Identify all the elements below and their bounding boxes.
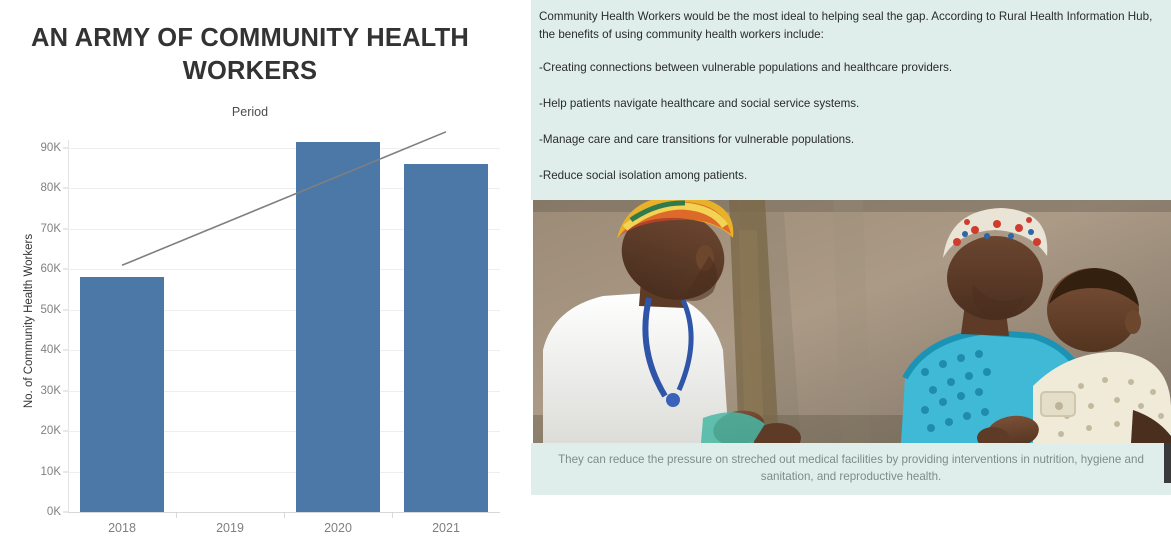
x-axis-tick-mark — [176, 512, 177, 518]
benefit-item-2: -Help patients navigate healthcare and s… — [539, 95, 1159, 113]
x-axis-tick-mark — [284, 512, 285, 518]
bar-2018[interactable] — [80, 277, 164, 512]
x-axis-tick-mark — [392, 512, 393, 518]
y-axis-tick-mark — [63, 228, 68, 229]
benefit-item-1: -Creating connections between vulnerable… — [539, 59, 1159, 77]
y-axis-tick-label: 20K — [41, 425, 61, 437]
y-axis-tick-mark — [63, 148, 68, 149]
y-axis-tick-label: 70K — [41, 223, 61, 235]
y-axis-tick-mark — [63, 188, 68, 189]
intro-paragraph: Community Health Workers would be the mo… — [539, 8, 1159, 44]
x-axis-tick-label-2019: 2019 — [216, 521, 244, 535]
chart-panel: AN ARMY OF COMMUNITY HEALTH WORKERS Peri… — [0, 0, 531, 541]
photo-caption: They can reduce the pressure on streched… — [541, 452, 1161, 486]
y-axis-tick-mark — [63, 309, 68, 310]
x-axis-tick-label-2020: 2020 — [324, 521, 352, 535]
community-health-worker-photo — [533, 200, 1171, 443]
y-axis-tick-mark — [63, 269, 68, 270]
y-axis-tick-label: 40K — [41, 344, 61, 356]
y-axis-tick-label: 10K — [41, 466, 61, 478]
benefit-item-3: -Manage care and care transitions for vu… — [539, 131, 1159, 149]
dashboard-root: AN ARMY OF COMMUNITY HEALTH WORKERS Peri… — [0, 0, 1171, 541]
y-axis-tick-mark — [63, 431, 68, 432]
y-axis-tick-mark — [63, 471, 68, 472]
x-axis-tick-label-2021: 2021 — [432, 521, 460, 535]
y-axis-tick-label: 30K — [41, 385, 61, 397]
x-axis-tick-label-2018: 2018 — [108, 521, 136, 535]
y-axis-tick-label: 50K — [41, 304, 61, 316]
y-axis-tick-label: 0K — [47, 506, 61, 518]
y-axis-tick-mark — [63, 350, 68, 351]
bar-2021[interactable] — [404, 164, 488, 512]
photo-caption-block: They can reduce the pressure on streched… — [531, 443, 1171, 495]
y-axis-tick-mark — [63, 512, 68, 513]
benefit-item-4: -Reduce social isolation among patients. — [539, 167, 1159, 185]
plot-area: 0K10K20K30K40K50K60K70K80K90K — [68, 140, 500, 512]
gridline — [68, 148, 500, 149]
y-axis-tick-label: 90K — [41, 142, 61, 154]
benefits-text-block: Community Health Workers would be the mo… — [531, 0, 1171, 200]
page-title: AN ARMY OF COMMUNITY HEALTH WORKERS — [0, 22, 500, 87]
chart-column-header: Period — [0, 105, 500, 119]
y-axis-tick-label: 60K — [41, 263, 61, 275]
y-axis-tick-label: 80K — [41, 182, 61, 194]
y-axis-tick-mark — [63, 390, 68, 391]
bar-2020[interactable] — [296, 142, 380, 512]
y-axis-title: No. of Community Health Workers — [23, 201, 35, 441]
info-panel: Community Health Workers would be the mo… — [531, 0, 1171, 541]
scrollbar-thumb[interactable] — [1164, 443, 1171, 483]
